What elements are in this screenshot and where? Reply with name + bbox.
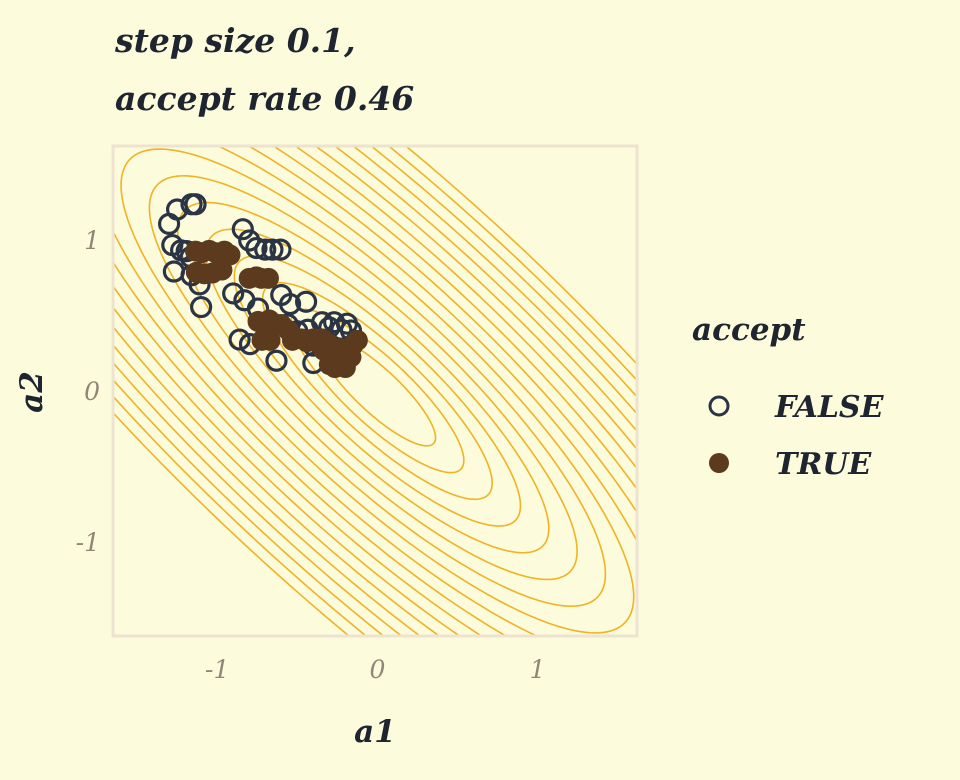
scatter-point-true (211, 260, 232, 281)
legend-label-false: FALSE (774, 390, 885, 425)
y-tick-label: -1 (76, 528, 100, 557)
x-tick-label: 0 (369, 655, 385, 684)
scatter-point-true (258, 268, 279, 289)
chart-title-line-1: step size 0.1, (114, 21, 356, 60)
x-tick-label: 1 (530, 655, 546, 684)
legend-key-filled-circle-icon (709, 453, 729, 473)
y-tick-label: 1 (84, 226, 100, 255)
y-tick-label: 0 (84, 377, 100, 406)
x-tick-label: -1 (205, 655, 229, 684)
scatter-point-true (347, 330, 368, 351)
scatter-point-true (335, 357, 356, 378)
chart-canvas: step size 0.1, accept rate 0.46 -101 -10… (0, 0, 960, 780)
x-axis-title: a1 (354, 714, 396, 750)
scatter-plot-figure: step size 0.1, accept rate 0.46 -101 -10… (0, 0, 960, 780)
y-axis-title: a2 (14, 371, 50, 413)
scatter-point-true (260, 330, 281, 351)
legend-title: accept (692, 312, 806, 348)
legend-label-true: TRUE (775, 447, 872, 482)
chart-title-line-2: accept rate 0.46 (115, 79, 414, 118)
